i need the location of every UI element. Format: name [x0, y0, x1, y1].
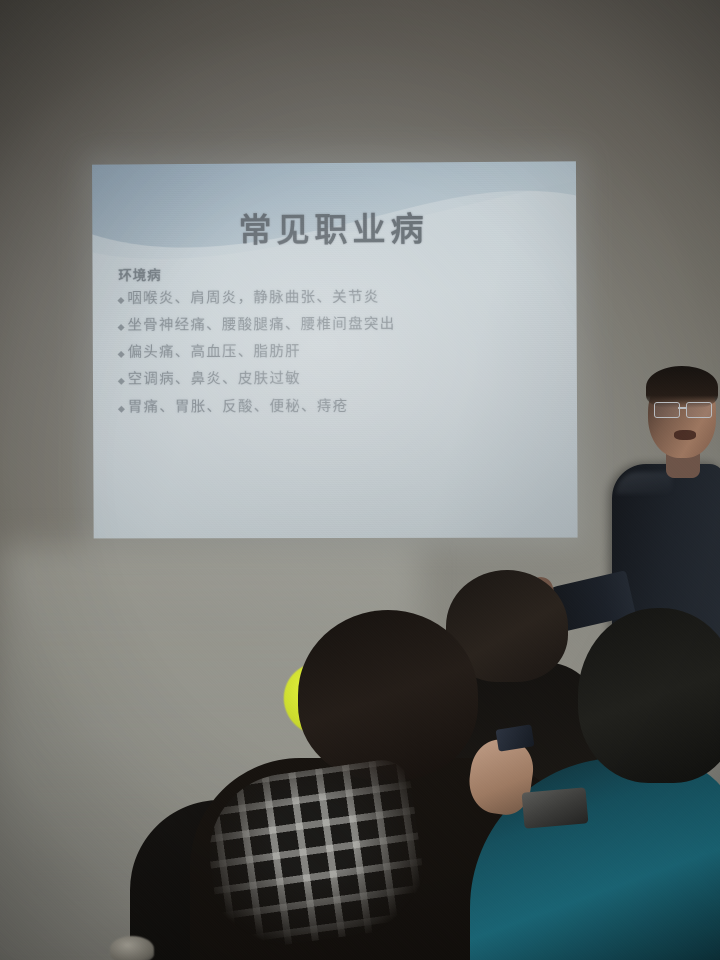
bullet-text: 胃痛、胃胀、反酸、便秘、痔疮	[128, 397, 349, 417]
foreground-object	[110, 936, 154, 960]
list-item: 空调病、鼻炎、皮肤过敏	[119, 369, 559, 390]
audience-head	[298, 610, 478, 780]
diamond-bullet-icon	[118, 351, 125, 358]
presenter-label: presenter-standing-right	[608, 368, 609, 369]
diamond-bullet-icon	[118, 324, 125, 331]
list-item: 咽喉炎、肩周炎，静脉曲张、关节炎	[118, 288, 558, 309]
audience-head	[578, 608, 720, 783]
glasses-icon	[652, 402, 716, 417]
bullet-text: 空调病、鼻炎、皮肤过敏	[128, 371, 301, 391]
glasses-bridge	[678, 407, 686, 409]
list-item: 胃痛、胃胀、反酸、便秘、痔疮	[119, 397, 559, 418]
bullet-text: 坐骨神经痛、腰酸腿痛、腰椎间盘突出	[127, 316, 395, 336]
diamond-bullet-icon	[118, 405, 125, 412]
slide-section-heading: 环境病	[118, 262, 558, 284]
slide-title: 常见职业病	[92, 201, 576, 252]
bullet-text: 咽喉炎、肩周炎，静脉曲张、关节炎	[127, 289, 379, 309]
presenter-mouth	[674, 430, 696, 440]
diamond-bullet-icon	[117, 297, 124, 304]
list-item: 偏头痛、高血压、脂肪肝	[119, 342, 559, 363]
list-item: 坐骨神经痛、腰酸腿痛、腰椎间盘突出	[119, 315, 559, 336]
presentation-room-photo: 常见职业病 环境病 咽喉炎、肩周炎，静脉曲张、关节炎 坐骨神经痛、腰酸腿痛、腰椎…	[0, 0, 720, 960]
bullet-text: 偏头痛、高血压、脂肪肝	[128, 343, 301, 363]
handheld-device	[522, 787, 589, 828]
presenter-shoulder-highlight	[616, 472, 672, 494]
diamond-bullet-icon	[118, 378, 125, 385]
slide-bullet-list: 咽喉炎、肩周炎，静脉曲张、关节炎 坐骨神经痛、腰酸腿痛、腰椎间盘突出 偏头痛、高…	[118, 288, 559, 418]
slide-body: 环境病 咽喉炎、肩周炎，静脉曲张、关节炎 坐骨神经痛、腰酸腿痛、腰椎间盘突出 偏…	[118, 262, 559, 426]
projected-slide: 常见职业病 环境病 咽喉炎、肩周炎，静脉曲张、关节炎 坐骨神经痛、腰酸腿痛、腰椎…	[92, 161, 578, 538]
